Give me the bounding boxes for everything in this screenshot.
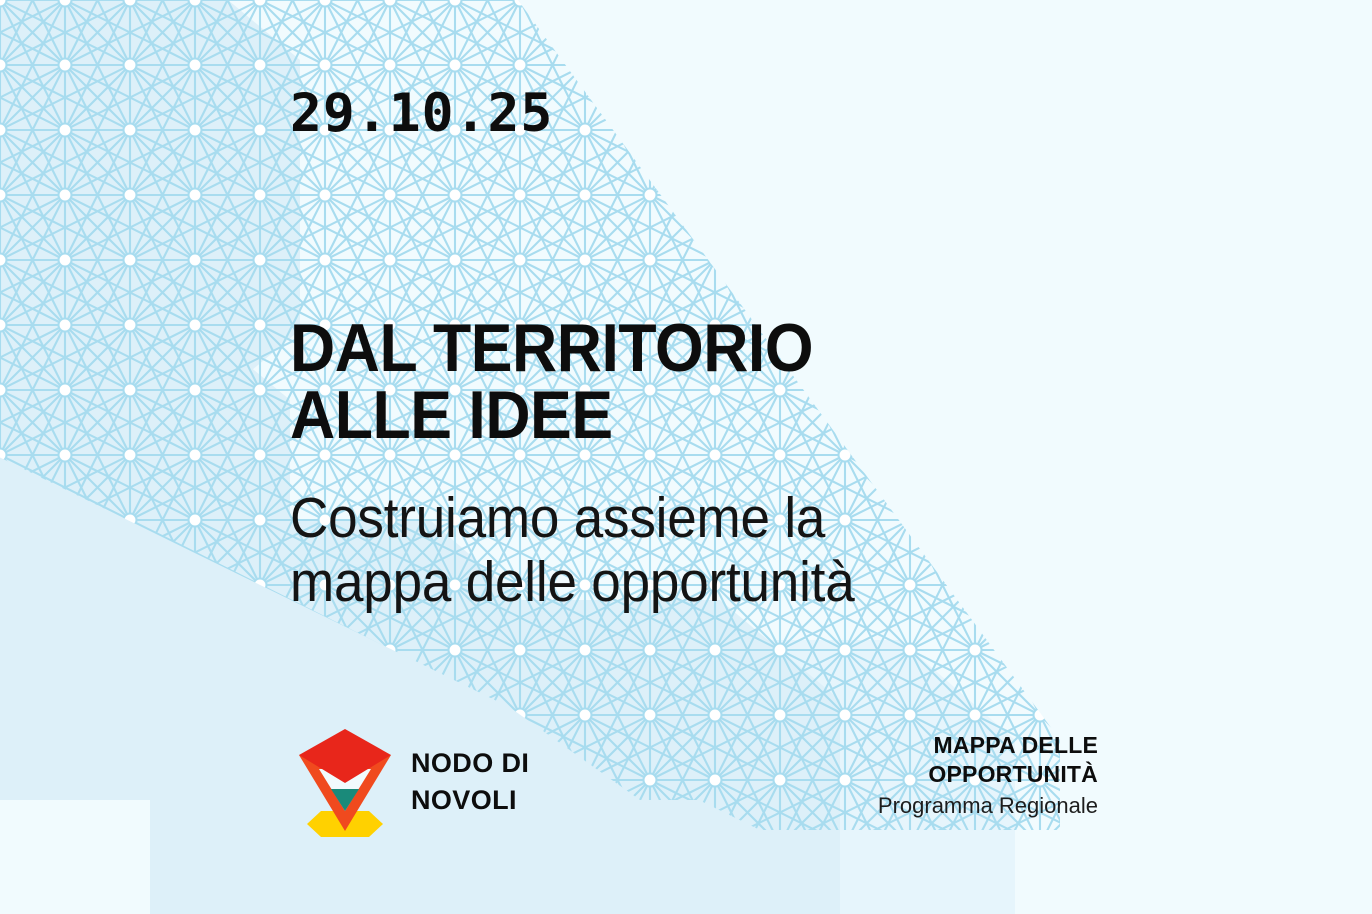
brand-name-label: NODO DI NOVOLI <box>411 745 529 820</box>
nodo-di-novoli-pin-logo <box>297 727 393 837</box>
page-subtitle: Costruiamo assieme la mappa delle opport… <box>290 487 855 615</box>
brand-lockup-mappa-delle-opportunita: MAPPA DELLE OPPORTUNITÀ Programma Region… <box>878 731 1098 820</box>
event-date: 29.10.25 <box>290 83 553 144</box>
event-poster: 29.10.25 DAL TERRITORIO ALLE IDEE Costru… <box>0 0 1372 914</box>
program-subtitle-label: Programma Regionale <box>878 792 1098 821</box>
page-title: DAL TERRITORIO ALLE IDEE <box>290 315 813 448</box>
brand-lockup-nodo-di-novoli: NODO DI NOVOLI <box>297 727 529 837</box>
program-title-label: MAPPA DELLE OPPORTUNITÀ <box>878 731 1098 789</box>
